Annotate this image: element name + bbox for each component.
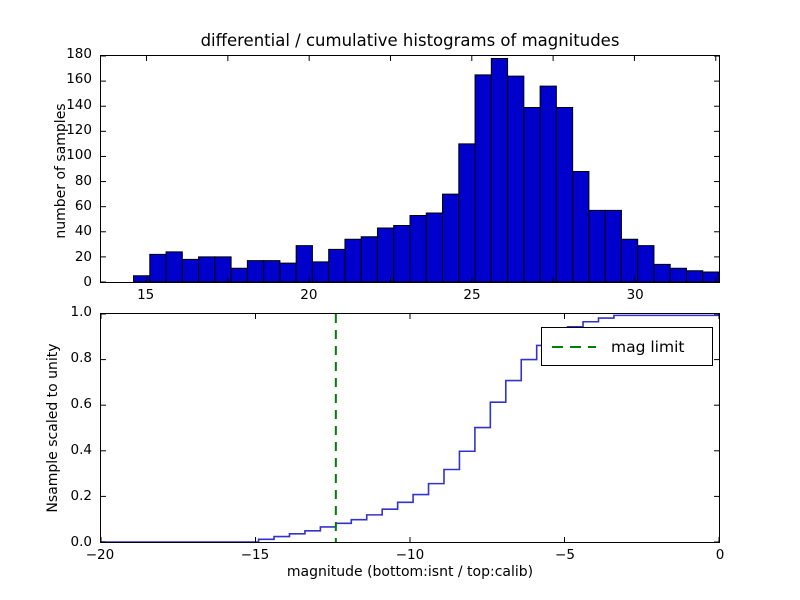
x-tick-label: 0 [690,547,750,563]
histogram-bar [573,172,589,282]
histogram-bar [329,249,345,282]
x-tick-label: 25 [442,287,502,303]
histogram-bar [443,194,459,282]
x-tick-label: 30 [605,287,665,303]
histogram-bar [296,246,312,282]
x-axis-label: magnitude (bottom:isnt / top:calib) [100,564,720,580]
histogram-bar [508,76,524,282]
y-tick-label: 0.6 [48,397,92,412]
histogram-bar [264,261,280,282]
histogram-bar [654,264,670,282]
histogram-bar [166,252,182,282]
histogram-bar [345,239,361,282]
y-tick-label: 1.0 [48,305,92,320]
histogram-bar [377,228,393,282]
y-tick-label: 160 [48,72,92,87]
histogram-bar [686,271,702,282]
differential-histogram-plot [101,56,719,282]
differential-histogram-axes [100,55,720,283]
histogram-bar [150,254,166,282]
y-tick-label: 80 [48,174,92,189]
histogram-bar [589,210,605,282]
histogram-bar [475,75,491,282]
histogram-bar [670,268,686,282]
histogram-bar [134,276,150,282]
histogram-bar [280,263,296,282]
legend-label-mag-limit: mag limit [611,338,684,356]
histogram-bar [182,259,198,282]
x-tick-label: 15 [116,287,176,303]
histogram-bar [426,213,442,282]
histogram-bar [540,86,556,282]
y-tick-label: 0.4 [48,443,92,458]
histogram-bar [361,237,377,282]
x-tick-label: −20 [70,547,130,563]
figure-title: differential / cumulative histograms of … [100,31,720,50]
histogram-bar [524,107,540,282]
matplotlib-figure: differential / cumulative histograms of … [0,0,800,600]
y-tick-label: 0 [48,275,92,290]
histogram-bar [312,262,328,282]
histogram-bar [410,215,426,282]
y-tick-label: 0.2 [48,489,92,504]
histogram-bar [459,144,475,282]
y-tick-label: 0.8 [48,351,92,366]
histogram-bar [638,246,654,282]
y-tick-label: 180 [48,47,92,62]
histogram-bar [247,261,263,282]
histogram-bar [605,210,621,282]
histogram-bar [621,239,637,282]
x-tick-label: 20 [279,287,339,303]
mag-limit-legend-line-icon [551,340,597,354]
y-tick-label: 140 [48,98,92,113]
histogram-bar [491,59,507,282]
y-tick-label: 40 [48,224,92,239]
y-tick-label: 60 [48,199,92,214]
y-tick-label: 20 [48,250,92,265]
bottom-plot-y-axis-label: Nsample scaled to unity [44,313,62,543]
y-tick-label: 120 [48,123,92,138]
histogram-bar [231,268,247,282]
x-tick-label: −10 [380,547,440,563]
histogram-bar [556,107,572,282]
histogram-bar [215,257,231,282]
histogram-bar [199,257,215,282]
x-tick-label: −5 [535,547,595,563]
x-tick-label: −15 [225,547,285,563]
y-tick-label: 100 [48,148,92,163]
histogram-bar [703,272,719,282]
histogram-bar [394,226,410,283]
legend: mag limit [541,327,713,366]
